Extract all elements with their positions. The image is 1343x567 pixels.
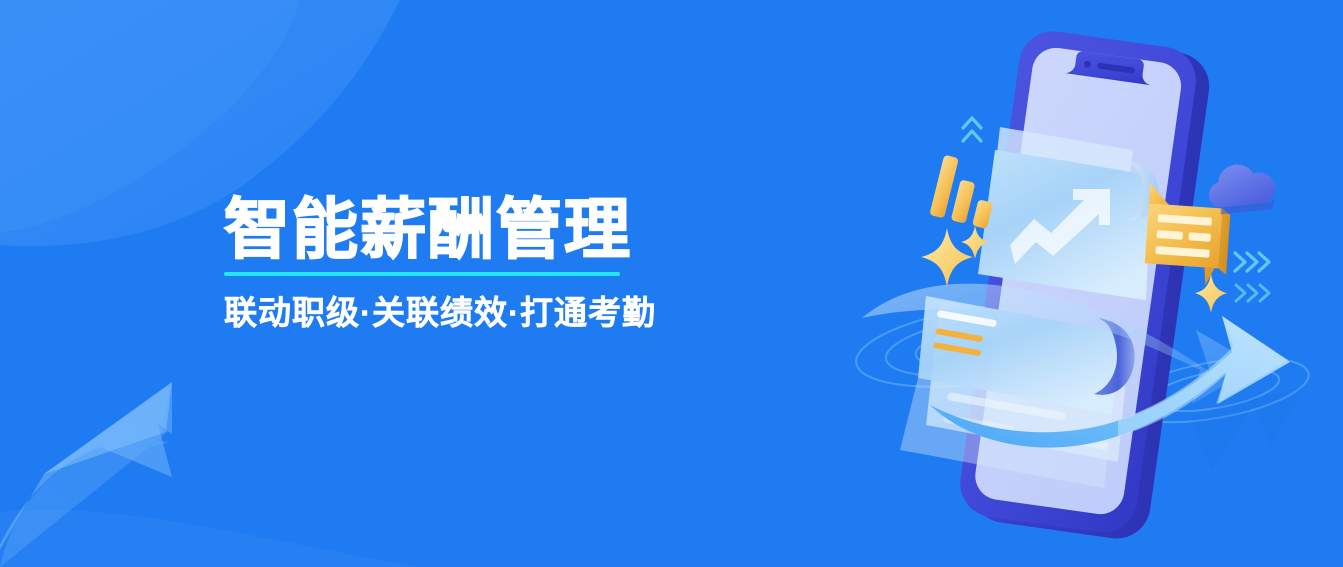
page-title: 智能薪酬管理 — [224, 196, 628, 262]
page-subtitle: 联动职级·关联绩效·打通考勤 — [224, 286, 628, 334]
banner-text-block: 智能薪酬管理 联动职级·关联绩效·打通考勤 — [224, 196, 628, 334]
title-divider — [224, 272, 620, 276]
chevron-right-icon — [1235, 253, 1269, 271]
chevron-up-icon — [963, 118, 981, 141]
chevron-right-icon-secondary — [1236, 285, 1269, 301]
chevron-decorations — [0, 0, 1343, 567]
promo-banner: 智能薪酬管理 联动职级·关联绩效·打通考勤 — [0, 0, 1343, 567]
